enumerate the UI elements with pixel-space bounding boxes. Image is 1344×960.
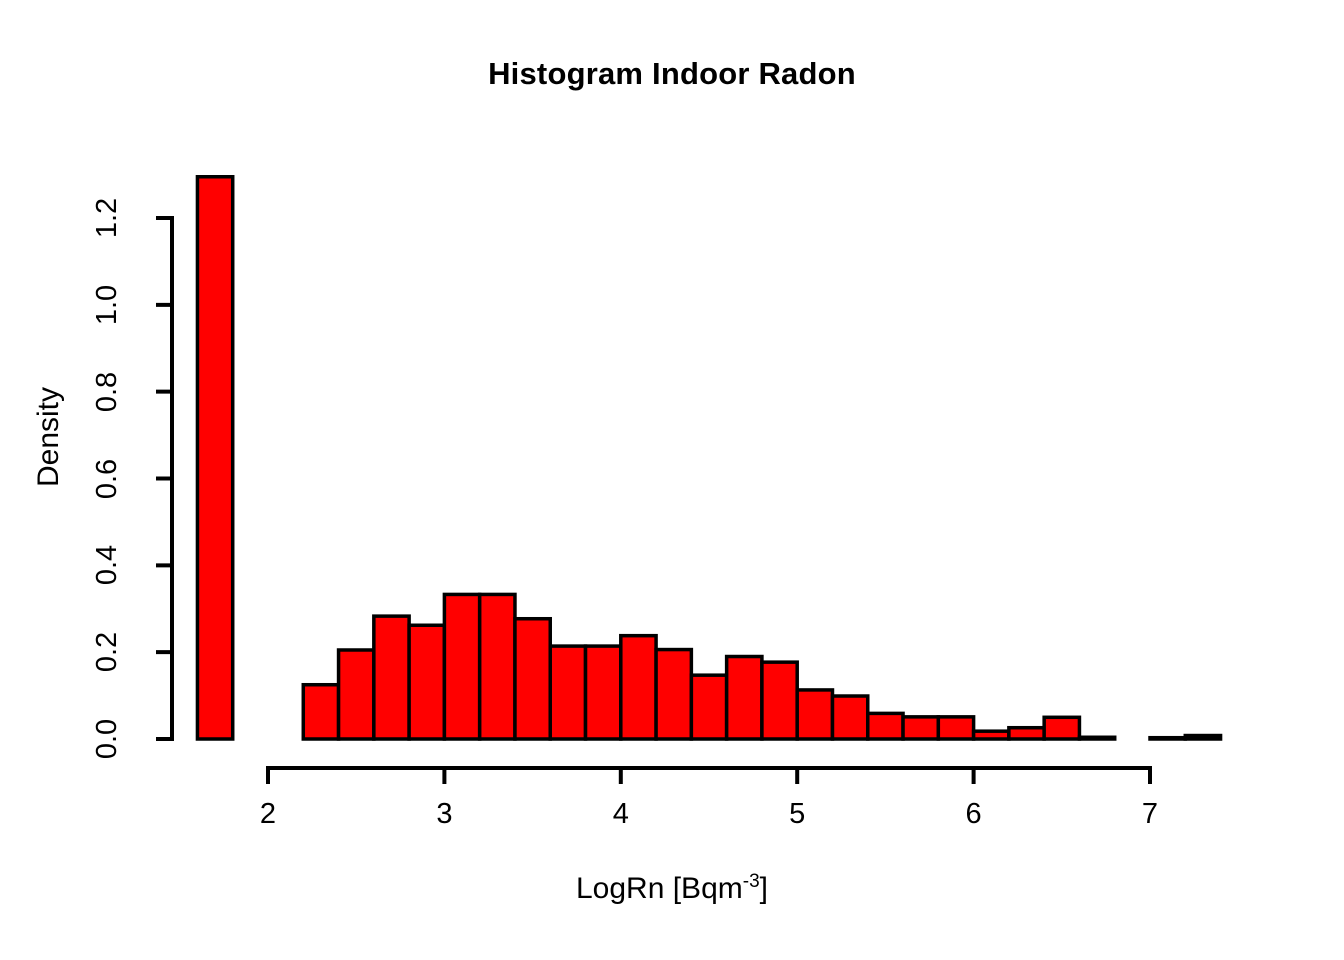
- y-tick-label: 1.2: [89, 183, 125, 253]
- x-tick-label: 6: [944, 798, 1004, 831]
- histogram-bar: [656, 650, 691, 739]
- y-tick-label: 0.2: [89, 617, 125, 687]
- histogram-bar: [727, 657, 762, 739]
- y-tick-label: 0.0: [89, 704, 125, 774]
- histogram-bar: [197, 177, 232, 739]
- histogram-bar: [374, 616, 409, 739]
- histogram-bar: [409, 625, 444, 739]
- x-tick-label: 4: [591, 798, 651, 831]
- histogram-bar: [868, 713, 903, 739]
- y-axis-title: Density: [32, 357, 66, 517]
- histogram-bar: [550, 646, 585, 739]
- histogram-bars: [197, 177, 1220, 739]
- histogram-bar: [762, 662, 797, 739]
- histogram-bar: [974, 731, 1009, 739]
- y-tick-label: 0.8: [89, 357, 125, 427]
- histogram-bar: [480, 594, 515, 739]
- histogram-bar: [691, 675, 726, 739]
- histogram-bar: [444, 594, 479, 739]
- density-axis-labels: Density 0.00.20.40.60.81.01.2: [0, 0, 200, 960]
- histogram-bar: [621, 636, 656, 739]
- histogram-bar: [938, 717, 973, 739]
- x-axis-title-base: LogRn [Bqm: [576, 872, 743, 905]
- histogram-bar: [586, 646, 621, 739]
- histogram-bar: [797, 690, 832, 739]
- x-axis-title: LogRn [Bqm-3]: [0, 872, 1344, 906]
- x-tick-label: 3: [414, 798, 474, 831]
- histogram-bar: [832, 696, 867, 739]
- histogram-bar: [903, 717, 938, 739]
- logrn-axis-line: [268, 768, 1150, 784]
- histogram-bar: [1009, 728, 1044, 739]
- histogram-bar: [1150, 738, 1185, 739]
- x-tick-label: 5: [767, 798, 827, 831]
- histogram-bar: [339, 650, 374, 739]
- histogram-bar: [1044, 717, 1079, 739]
- histogram-plot: Histogram Indoor Radon Density 0.00.20.4…: [0, 0, 1344, 960]
- x-tick-label: 7: [1120, 798, 1180, 831]
- histogram-bar: [515, 619, 550, 739]
- y-tick-label: 0.6: [89, 444, 125, 514]
- histogram-bar: [1079, 737, 1114, 739]
- x-axis-title-exponent: -3: [743, 871, 760, 892]
- histogram-bar: [1185, 736, 1220, 739]
- y-tick-label: 1.0: [89, 270, 125, 340]
- histogram-bar: [303, 685, 338, 739]
- x-tick-label: 2: [238, 798, 298, 831]
- x-axis-title-close: ]: [760, 872, 768, 905]
- y-tick-label: 0.4: [89, 530, 125, 600]
